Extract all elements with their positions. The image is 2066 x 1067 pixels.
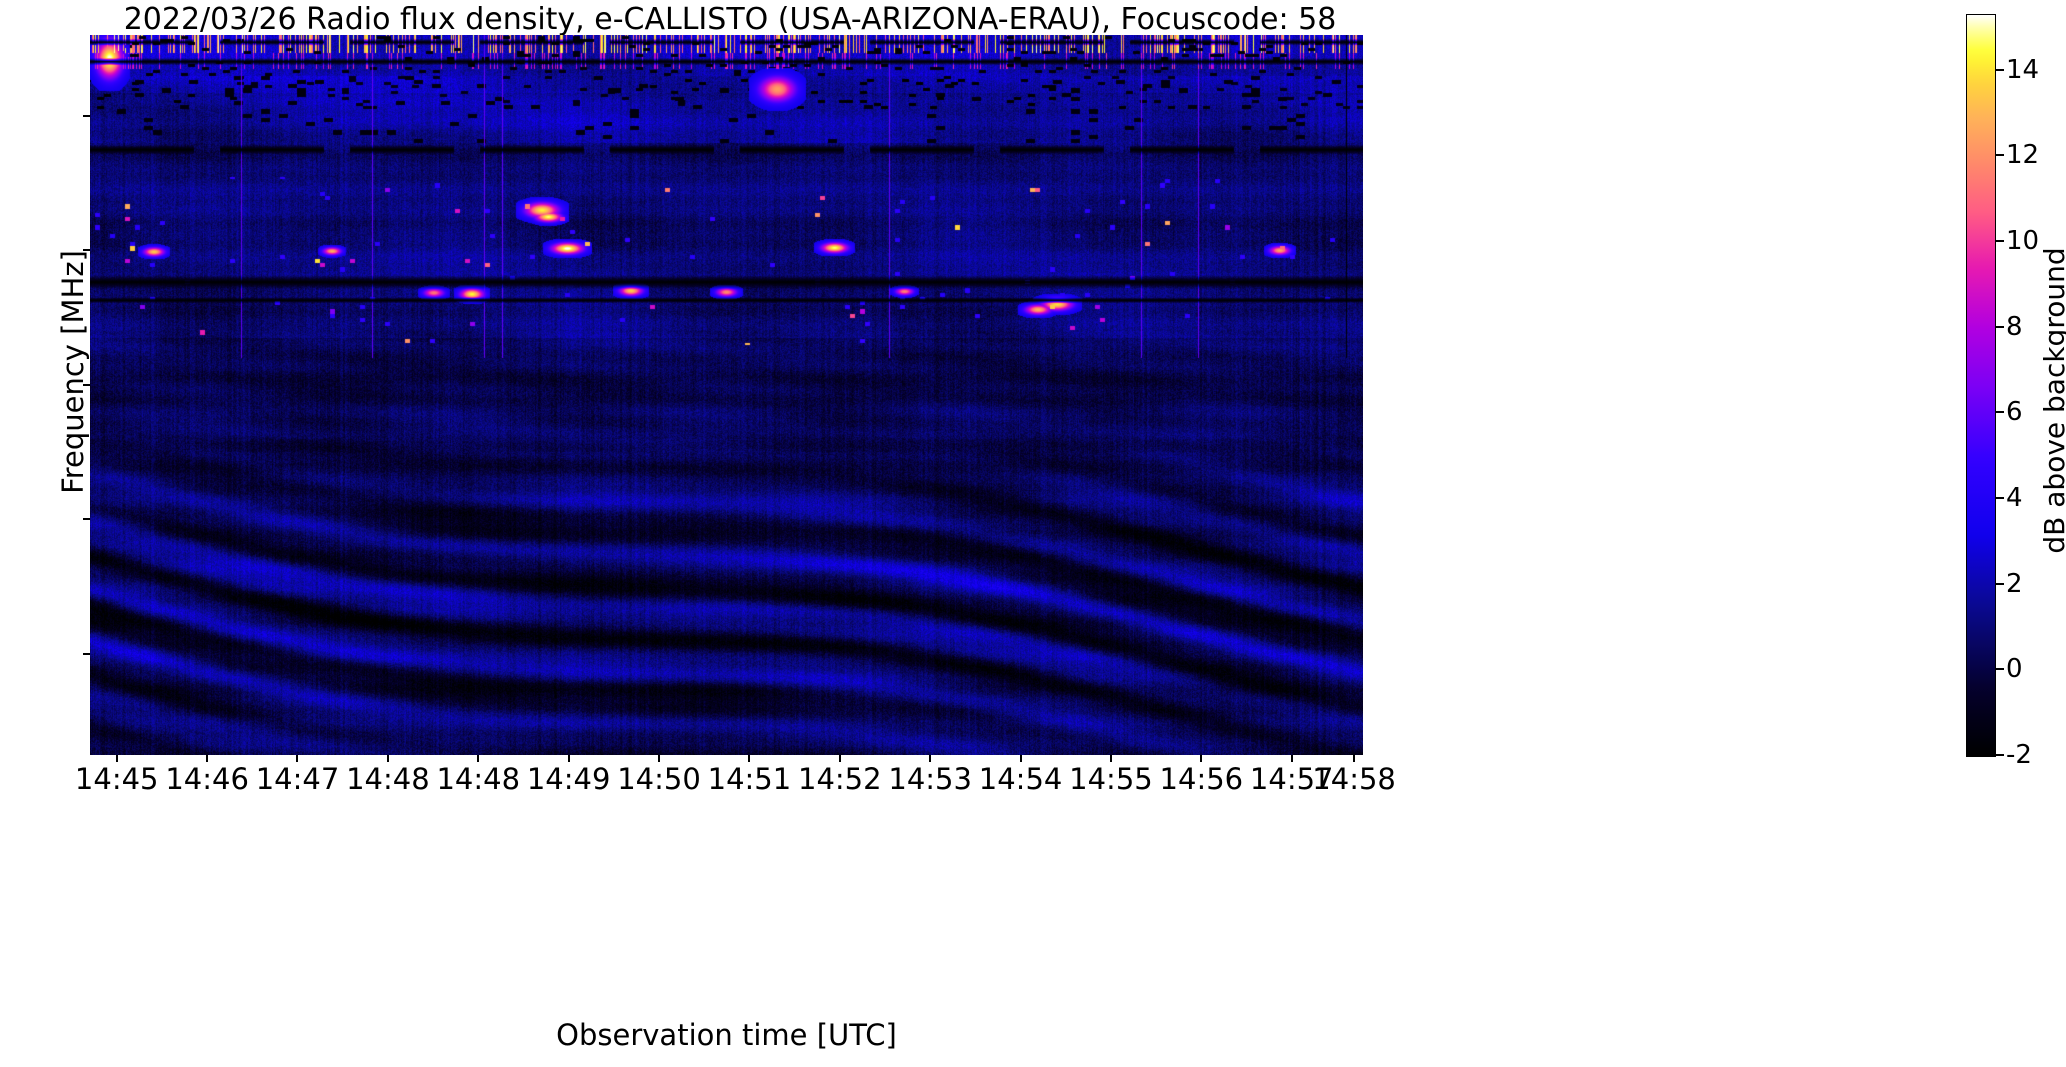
x-tick-mark bbox=[929, 755, 931, 762]
colorbar-tick-label: -2 bbox=[2006, 740, 2032, 770]
x-tick-mark bbox=[568, 755, 570, 762]
colorbar-tick-mark bbox=[1996, 497, 2004, 499]
colorbar bbox=[1966, 14, 1996, 757]
colorbar-tick-label: 12 bbox=[2006, 140, 2039, 170]
colorbar-tick-mark bbox=[1996, 326, 2004, 328]
x-tick-mark bbox=[387, 755, 389, 762]
y-tick-mark bbox=[83, 653, 90, 655]
x-tick-label: 14:55 bbox=[1069, 762, 1153, 796]
y-tick-mark bbox=[83, 518, 90, 520]
colorbar-tick-mark bbox=[1996, 754, 2004, 756]
page-title: 2022/03/26 Radio flux density, e-CALLIST… bbox=[0, 2, 1460, 37]
colorbar-tick-mark bbox=[1996, 668, 2004, 670]
colorbar-tick-label: 4 bbox=[2006, 483, 2023, 513]
x-tick-mark bbox=[116, 755, 118, 762]
x-tick-mark bbox=[206, 755, 208, 762]
x-tick-label: 14:54 bbox=[979, 762, 1063, 796]
y-axis-label: Frequency [MHz] bbox=[56, 12, 90, 732]
x-axis-label: Observation time [UTC] bbox=[90, 1018, 1363, 1052]
colorbar-gradient bbox=[1967, 15, 1995, 756]
x-tick-label: 14:58 bbox=[1312, 762, 1396, 796]
colorbar-tick-mark bbox=[1996, 154, 2004, 156]
x-tick-mark bbox=[839, 755, 841, 762]
x-tick-mark bbox=[1353, 755, 1355, 762]
x-tick-mark bbox=[477, 755, 479, 762]
x-tick-mark bbox=[658, 755, 660, 762]
x-tick-mark bbox=[1020, 755, 1022, 762]
x-tick-label: 14:47 bbox=[256, 762, 340, 796]
colorbar-tick-mark bbox=[1996, 69, 2004, 71]
colorbar-tick-label: 0 bbox=[2006, 654, 2023, 684]
colorbar-tick-label: 14 bbox=[2006, 55, 2039, 85]
x-tick-mark bbox=[296, 755, 298, 762]
x-tick-label: 14:48 bbox=[436, 762, 520, 796]
spectrogram-heatmap bbox=[90, 35, 1363, 755]
x-tick-label: 14:46 bbox=[165, 762, 249, 796]
colorbar-tick-label: 10 bbox=[2006, 226, 2039, 256]
colorbar-tick-mark bbox=[1996, 411, 2004, 413]
colorbar-tick-label: 6 bbox=[2006, 397, 2023, 427]
x-tick-label: 14:51 bbox=[708, 762, 792, 796]
x-tick-label: 14:48 bbox=[346, 762, 430, 796]
x-tick-label: 14:45 bbox=[75, 762, 159, 796]
x-tick-label: 14:53 bbox=[888, 762, 972, 796]
x-tick-mark bbox=[1110, 755, 1112, 762]
y-tick-mark bbox=[83, 249, 90, 251]
x-tick-mark bbox=[1200, 755, 1202, 762]
x-tick-label: 14:49 bbox=[527, 762, 611, 796]
y-tick-mark bbox=[83, 115, 90, 117]
colorbar-tick-label: 2 bbox=[2006, 569, 2023, 599]
colorbar-tick-label: 8 bbox=[2006, 312, 2023, 342]
x-tick-mark bbox=[748, 755, 750, 762]
spectrogram-plot-area bbox=[90, 35, 1363, 755]
x-tick-mark bbox=[1291, 755, 1293, 762]
x-tick-label: 14:50 bbox=[617, 762, 701, 796]
colorbar-label: dB above background bbox=[2038, 30, 2066, 771]
y-tick-mark bbox=[83, 384, 90, 386]
colorbar-tick-mark bbox=[1996, 583, 2004, 585]
colorbar-tick-mark bbox=[1996, 240, 2004, 242]
x-tick-label: 14:56 bbox=[1160, 762, 1244, 796]
x-tick-label: 14:52 bbox=[798, 762, 882, 796]
